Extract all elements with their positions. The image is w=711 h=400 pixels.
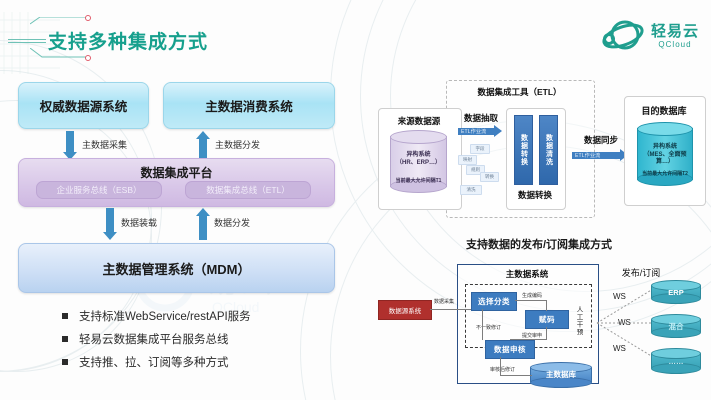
pubsub-box-classify-label: 选择分类	[478, 296, 510, 307]
etl-mini-tag-label: 映射	[463, 157, 472, 163]
decor-kink-top-icon	[30, 17, 90, 25]
brand-logo: 轻易云 QCloud	[601, 14, 699, 58]
pubsub-conn-encode-review	[546, 327, 547, 339]
pubsub-conn-classify-down	[482, 309, 483, 340]
pubsub-box-review-label: 数据申核	[494, 344, 526, 355]
pubsub-source-box[interactable]: 数据源系统	[378, 300, 432, 320]
etl-sync-arrow: ETL作业流	[572, 152, 630, 159]
etl-diagram: 数据集成工具（ETL） 来源数据源 异构系统 （HR、ERP…） 当前最大允许间…	[370, 68, 708, 228]
etl-target-caption: 目的数据库	[624, 104, 704, 117]
slide-canvas: 支持多种集成方式 轻易云 QCloud 权威数据源系统 主数据消费系统 主数据采…	[0, 0, 711, 400]
etl-extract-arrow: ETL作业流	[458, 128, 502, 135]
cyl-line: 异构系统	[390, 152, 447, 160]
pill-esb[interactable]: 企业服务总线（ESB）	[36, 181, 162, 199]
pubsub-system-label: 主数据系统	[457, 268, 597, 280]
pubsub-master-db[interactable]: 主数据库	[530, 362, 592, 388]
bullet-square-icon	[62, 336, 68, 342]
label-load: 数据装载	[121, 216, 157, 229]
etl-tool-title: 数据集成工具（ETL）	[446, 86, 593, 98]
pubsub-target-other-label: ……	[651, 357, 701, 366]
etl-extract-label: 数据抽取	[456, 112, 506, 124]
pill-etl-label: 数据集成总线（ETL）	[206, 184, 290, 196]
list-item: 轻易云数据集成平台服务总线	[62, 331, 251, 347]
qcloud-orbit-icon	[601, 14, 645, 58]
cyl-line: 异构系统	[637, 144, 693, 152]
pubsub-target-erp-label: ERP	[651, 288, 701, 297]
etl-mini-tag: 字段	[470, 144, 490, 154]
list-item: 支持标准WebService/restAPI服务	[62, 308, 251, 324]
pill-etl[interactable]: 数据集成总线（ETL）	[185, 181, 311, 199]
label-collect: 主数据采集	[82, 138, 127, 151]
pubsub-label-generate-code: 生成编码	[522, 292, 542, 299]
etl-target-cylinder: 异构系统 （MES、全面预算…） 当前最大允许间隔T2	[637, 122, 693, 186]
box-mdm-system-label: 主数据管理系统（MDM）	[102, 259, 250, 278]
box-source-system-label: 权威数据源系统	[40, 96, 128, 115]
box-consumer-system-label: 主数据消费系统	[205, 96, 293, 115]
pubsub-conn-encode-down	[546, 300, 547, 311]
logo-text-en: QCloud	[651, 41, 699, 49]
etl-transform-caption: 数据转换	[506, 189, 564, 201]
box-mdm-system[interactable]: 主数据管理系统（MDM）	[18, 243, 335, 293]
cyl-line: （MES、全面预算…）	[637, 152, 693, 167]
arrow-collect	[63, 131, 77, 160]
pubsub-conn-db-left	[500, 375, 532, 376]
etl-target-cylinder-footer: 当前最大允许间隔T2	[637, 171, 693, 177]
etl-source-cylinder-text: 异构系统 （HR、ERP…）	[390, 152, 447, 167]
pubsub-label-submit-review: 提交审申	[522, 332, 542, 339]
etl-mini-tag-label: 规则	[471, 167, 480, 173]
list-item: 支持推、拉、订阅等多种方式	[62, 354, 251, 370]
etl-target-cylinder-text: 异构系统 （MES、全面预算…）	[637, 144, 693, 167]
box-integration-platform-label: 数据集成平台	[140, 164, 212, 181]
bullet-text: 轻易云数据集成平台服务总线	[79, 331, 229, 347]
box-consumer-system[interactable]: 主数据消费系统	[163, 82, 335, 129]
etl-source-cylinder: 异构系统 （HR、ERP…） 当前最大允许间隔T1	[390, 130, 447, 193]
pubsub-source-arrow-label: 数据采集	[434, 298, 454, 305]
pubsub-target-mixed-label: 混合	[651, 322, 701, 331]
etl-mini-tag: 转换	[480, 172, 499, 182]
pubsub-master-db-label: 主数据库	[530, 370, 592, 379]
etl-source-caption: 来源数据源	[378, 115, 460, 127]
etl-bar-cleanse: 数据清洗	[539, 115, 558, 185]
box-source-system[interactable]: 权威数据源系统	[18, 82, 149, 129]
bullet-square-icon	[62, 359, 68, 365]
decor-dot-top	[85, 15, 91, 21]
bullet-text: 支持标准WebService/restAPI服务	[79, 308, 251, 324]
bullet-text: 支持推、拉、订阅等多种方式	[79, 354, 229, 370]
etl-mini-tag-label: 清洗	[467, 187, 476, 193]
etl-mini-tag: 映射	[458, 155, 477, 165]
pubsub-diagram: 支持数据的发布/订阅集成方式 主数据系统 数据源系统 数据采集 选择分类 赋码 …	[370, 236, 708, 394]
pubsub-box-classify[interactable]: 选择分类	[471, 292, 517, 311]
pubsub-box-review[interactable]: 数据申核	[485, 340, 535, 359]
arrow-load	[103, 208, 117, 240]
logo-text-cn: 轻易云	[651, 24, 699, 39]
etl-bar-transform-label: 数据转换	[519, 134, 529, 166]
pubsub-box-encode-label: 赋码	[539, 314, 555, 325]
etl-bar-cleanse-label: 数据清洗	[544, 134, 554, 166]
pubsub-source-box-label: 数据源系统	[389, 305, 422, 315]
pubsub-conn-review-left	[510, 339, 547, 340]
pubsub-target-other[interactable]: ……	[651, 348, 701, 374]
pubsub-conn-classify-encode	[515, 300, 547, 301]
pubsub-target-mixed[interactable]: 混合	[651, 314, 701, 338]
page-title: 支持多种集成方式	[48, 27, 208, 54]
pubsub-target-erp[interactable]: ERP	[651, 280, 701, 304]
pubsub-label-post-review-fix: 审核后修订	[490, 366, 515, 373]
pubsub-conn-review-db	[500, 357, 501, 375]
pubsub-manual-label: 人工干预	[573, 306, 583, 336]
pubsub-box-encode[interactable]: 赋码	[525, 310, 569, 329]
pubsub-title: 支持数据的发布/订阅集成方式	[370, 236, 708, 252]
etl-extract-arrow-text: ETL作业流	[461, 128, 486, 135]
etl-source-cylinder-footer: 当前最大允许间隔T1	[390, 178, 447, 184]
etl-bar-transform: 数据转换	[514, 115, 533, 185]
arrow-distribute	[196, 131, 210, 160]
pubsub-fanout-lines	[595, 281, 655, 363]
label-dispatch: 数据分发	[214, 216, 250, 229]
decor-dot-bottom	[85, 55, 91, 61]
pubsub-source-connector	[430, 309, 472, 310]
cyl-line: （HR、ERP…）	[390, 160, 447, 168]
etl-sync-arrow-text: ETL作业流	[575, 152, 600, 159]
pill-esb-label: 企业服务总线（ESB）	[56, 184, 141, 196]
label-distribute: 主数据分发	[215, 138, 260, 151]
pubsub-label-inconsistent-fix: 不一致修订	[476, 324, 501, 331]
feature-bullet-list: 支持标准WebService/restAPI服务 轻易云数据集成平台服务总线 支…	[62, 308, 251, 377]
bullet-square-icon	[62, 313, 68, 319]
etl-mini-tag-label: 字段	[476, 146, 485, 152]
etl-mini-tag: 清洗	[460, 185, 482, 195]
etl-mini-tag-label: 转换	[485, 174, 494, 180]
pubsub-publish-label: 发布/订阅	[606, 266, 676, 279]
arrow-dispatch	[196, 208, 210, 240]
etl-sync-label: 数据同步	[575, 134, 627, 146]
